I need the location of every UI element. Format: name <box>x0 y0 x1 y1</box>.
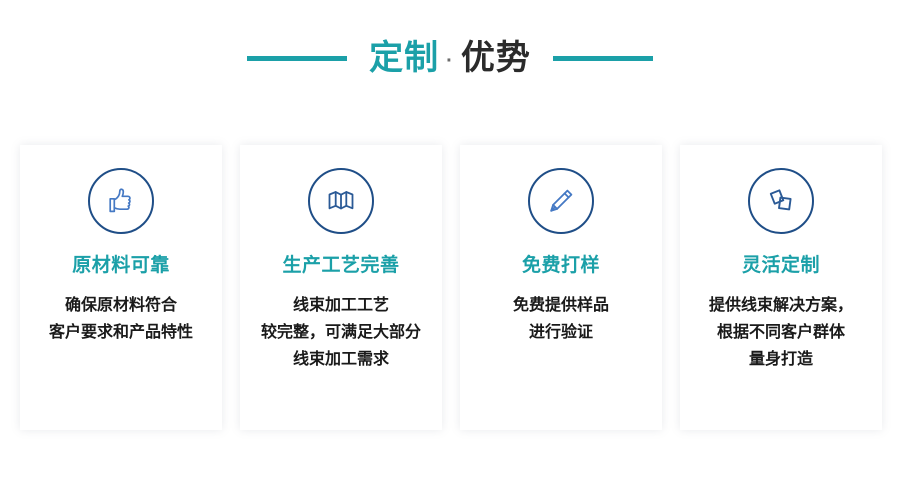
thumbs-up-icon <box>104 184 138 218</box>
feature-card-title: 灵活定制 <box>742 255 820 278</box>
feature-card-description: 免费提供样品 进行验证 <box>468 292 654 346</box>
folded-map-icon <box>324 184 358 218</box>
feature-card-description: 提供线束解决方案， 根据不同客户群体 量身打造 <box>688 292 874 373</box>
icon-ring <box>88 168 154 234</box>
feature-card[interactable]: 灵活定制 提供线束解决方案， 根据不同客户群体 量身打造 <box>680 145 882 430</box>
icon-ring <box>748 168 814 234</box>
feature-card-title: 免费打样 <box>522 255 600 278</box>
feature-card-title: 原材料可靠 <box>72 255 170 278</box>
feature-card[interactable]: 生产工艺完善 线束加工工艺 较完整，可满足大部分 线束加工需求 <box>240 145 442 430</box>
feature-card[interactable]: 原材料可靠 确保原材料符合 客户要求和产品特性 <box>20 145 222 430</box>
pencil-icon <box>544 184 578 218</box>
icon-ring <box>528 168 594 234</box>
feature-card-description: 线束加工工艺 较完整，可满足大部分 线束加工需求 <box>248 292 434 373</box>
heading-rule-right <box>553 56 653 61</box>
page-title-separator: · <box>439 51 461 71</box>
feature-card-description: 确保原材料符合 客户要求和产品特性 <box>28 292 214 346</box>
page-title-accent: 定制 <box>369 41 439 75</box>
section-header: 定制 · 优势 <box>0 30 900 86</box>
icon-ring <box>308 168 374 234</box>
page-title: 定制 · 优势 <box>369 41 531 75</box>
feature-card-row: 原材料可靠 确保原材料符合 客户要求和产品特性 生产工艺完善 线束加工工艺 较完… <box>20 145 884 430</box>
feature-card-title: 生产工艺完善 <box>282 255 399 278</box>
page-title-main: 优势 <box>461 41 531 75</box>
feature-card[interactable]: 免费打样 免费提供样品 进行验证 <box>460 145 662 430</box>
stacked-cards-icon <box>764 184 798 218</box>
heading-rule-left <box>247 56 347 61</box>
